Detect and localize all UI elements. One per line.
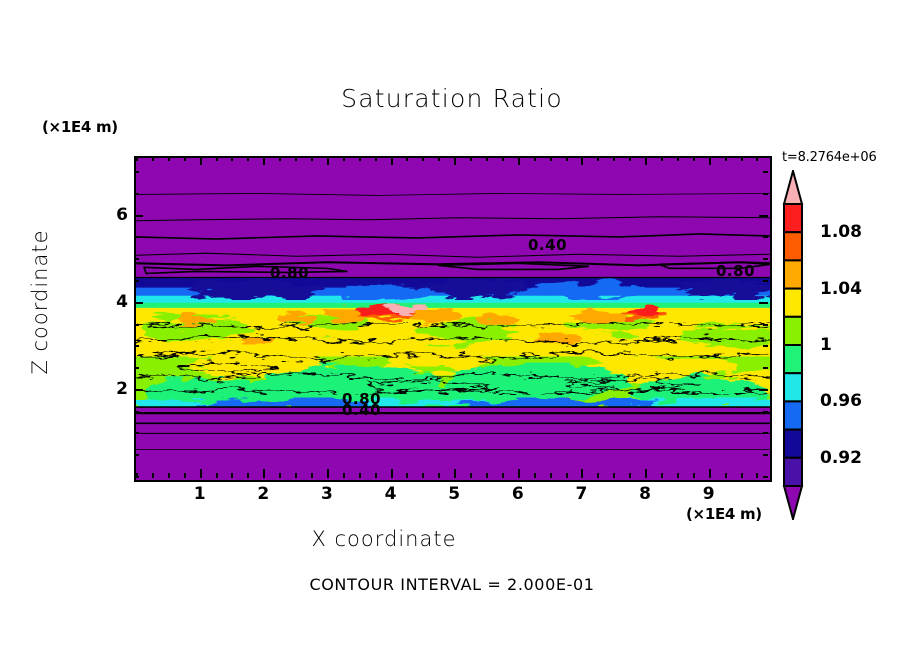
y-axis-title: Z coordinate bbox=[28, 202, 52, 402]
y-axis-unit-label: (×1E4 m) bbox=[42, 118, 118, 136]
x-tick-label: 1 bbox=[194, 484, 206, 504]
colorbar-cap-bottom bbox=[784, 486, 802, 519]
colorbar-tick-label: 1 bbox=[820, 335, 832, 355]
colorbar[interactable] bbox=[778, 170, 808, 520]
colorbar-tick-label: 0.96 bbox=[820, 391, 862, 411]
contour-interval-note: CONTOUR INTERVAL = 2.000E-01 bbox=[0, 575, 904, 594]
y-tick-label: 6 bbox=[106, 205, 128, 225]
contour-label: 0.40 bbox=[528, 236, 567, 254]
x-tick-label: 3 bbox=[321, 484, 333, 504]
colorbar-tick-label: 1.08 bbox=[820, 222, 862, 242]
colorbar-band bbox=[784, 345, 802, 373]
colorbar-band bbox=[784, 317, 802, 345]
x-tick-label: 7 bbox=[576, 484, 588, 504]
colorbar-tick-label: 1.04 bbox=[820, 279, 862, 299]
colorbar-band bbox=[784, 289, 802, 317]
colorbar-tick-label: 0.92 bbox=[820, 448, 862, 468]
x-axis-unit-label: (×1E4 m) bbox=[686, 505, 762, 523]
y-tick-label: 2 bbox=[106, 379, 128, 399]
x-tick-label: 4 bbox=[385, 484, 397, 504]
contour-label: 0.80 bbox=[716, 262, 755, 280]
colorbar-cap-top bbox=[784, 171, 802, 204]
colorbar-band bbox=[784, 373, 802, 401]
x-tick-label: 9 bbox=[703, 484, 715, 504]
colorbar-band bbox=[784, 204, 802, 232]
y-tick-label: 4 bbox=[106, 292, 128, 312]
contour-label: 0.80 bbox=[270, 264, 309, 282]
timestamp-annotation: t=8.2764e+06 bbox=[782, 150, 877, 165]
contour-label: 0.40 bbox=[342, 401, 381, 419]
x-tick-label: 8 bbox=[639, 484, 651, 504]
x-tick-label: 6 bbox=[512, 484, 524, 504]
x-axis-title: X coordinate bbox=[0, 527, 768, 551]
colorbar-band bbox=[784, 458, 802, 486]
page-title: Saturation Ratio bbox=[0, 84, 904, 113]
contour-plot-area[interactable]: 0.40 0.80 0.80 0.80 0.40 bbox=[134, 156, 772, 482]
colorbar-band bbox=[784, 401, 802, 429]
x-tick-label: 5 bbox=[448, 484, 460, 504]
colorbar-band bbox=[784, 430, 802, 458]
contour-field bbox=[136, 158, 770, 480]
x-tick-label: 2 bbox=[257, 484, 269, 504]
colorbar-band bbox=[784, 260, 802, 288]
colorbar-band bbox=[784, 232, 802, 260]
